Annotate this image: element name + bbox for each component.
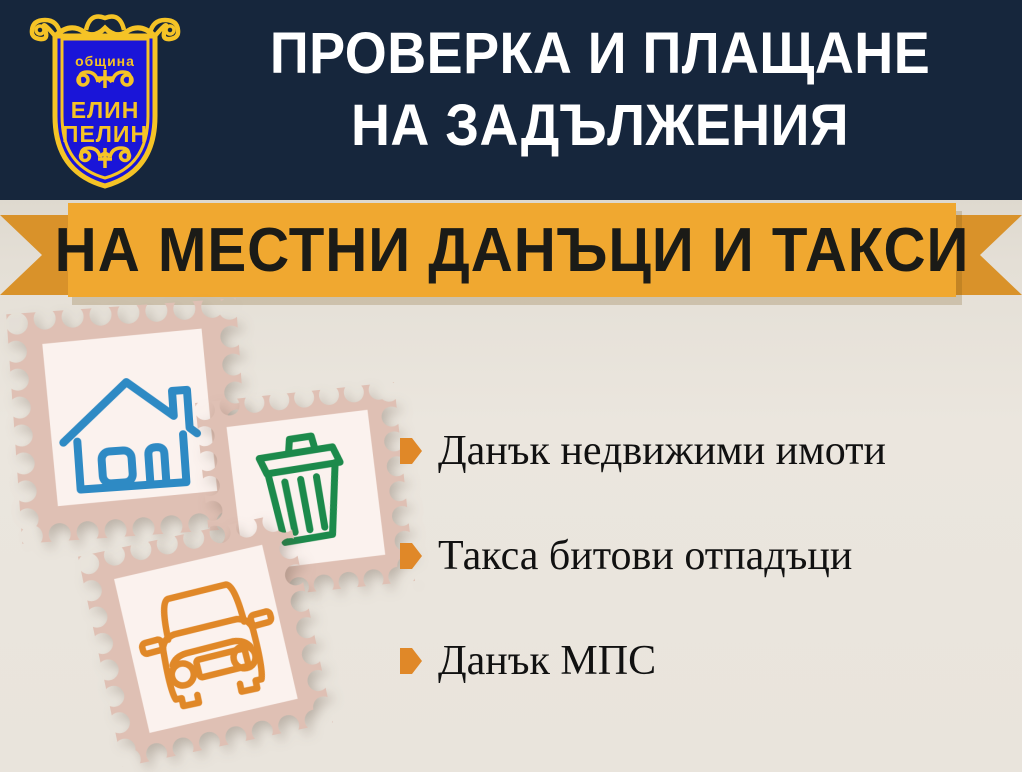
list-item-label: Такса битови отпадъци [438,533,852,579]
page-title-line-2: НА ЗАДЪЛЖЕНИЯ [219,90,982,162]
list-item[interactable]: Данък недвижими имоти [400,425,1010,477]
svg-text:община: община [75,53,135,69]
arrow-bullet-icon [400,543,422,569]
page-title: ПРОВЕРКА И ПЛАЩАНЕ НА ЗАДЪЛЖЕНИЯ [219,18,982,162]
stamp-car-graphic [78,512,333,767]
list-item[interactable]: Такса битови отпадъци [400,530,1010,582]
tax-type-list: Данък недвижими имоти Такса битови отпад… [400,425,1010,740]
svg-text:ЕЛИН: ЕЛИН [71,97,140,123]
list-item-label: Данък недвижими имоти [438,428,886,474]
subtitle-ribbon: НА МЕСТНИ ДАНЪЦИ И ТАКСИ [0,203,1022,303]
svg-text:ПЕЛИН: ПЕЛИН [62,121,148,147]
municipality-emblem: община ЕЛИН ПЕЛИН [24,6,186,196]
coat-of-arms-icon: община ЕЛИН ПЕЛИН [24,6,186,196]
list-item[interactable]: Данък МПС [400,635,1010,687]
poster-root: община ЕЛИН ПЕЛИН [0,0,1022,772]
header-banner: община ЕЛИН ПЕЛИН [0,0,1022,200]
list-item-label: Данък МПС [438,638,656,684]
ribbon-label: НА МЕСТНИ ДАНЪЦИ И ТАКСИ [95,203,930,297]
arrow-bullet-icon [400,438,422,464]
page-title-line-1: ПРОВЕРКА И ПЛАЩАНЕ [219,18,982,90]
stamp-card-car [78,512,333,767]
arrow-bullet-icon [400,648,422,674]
